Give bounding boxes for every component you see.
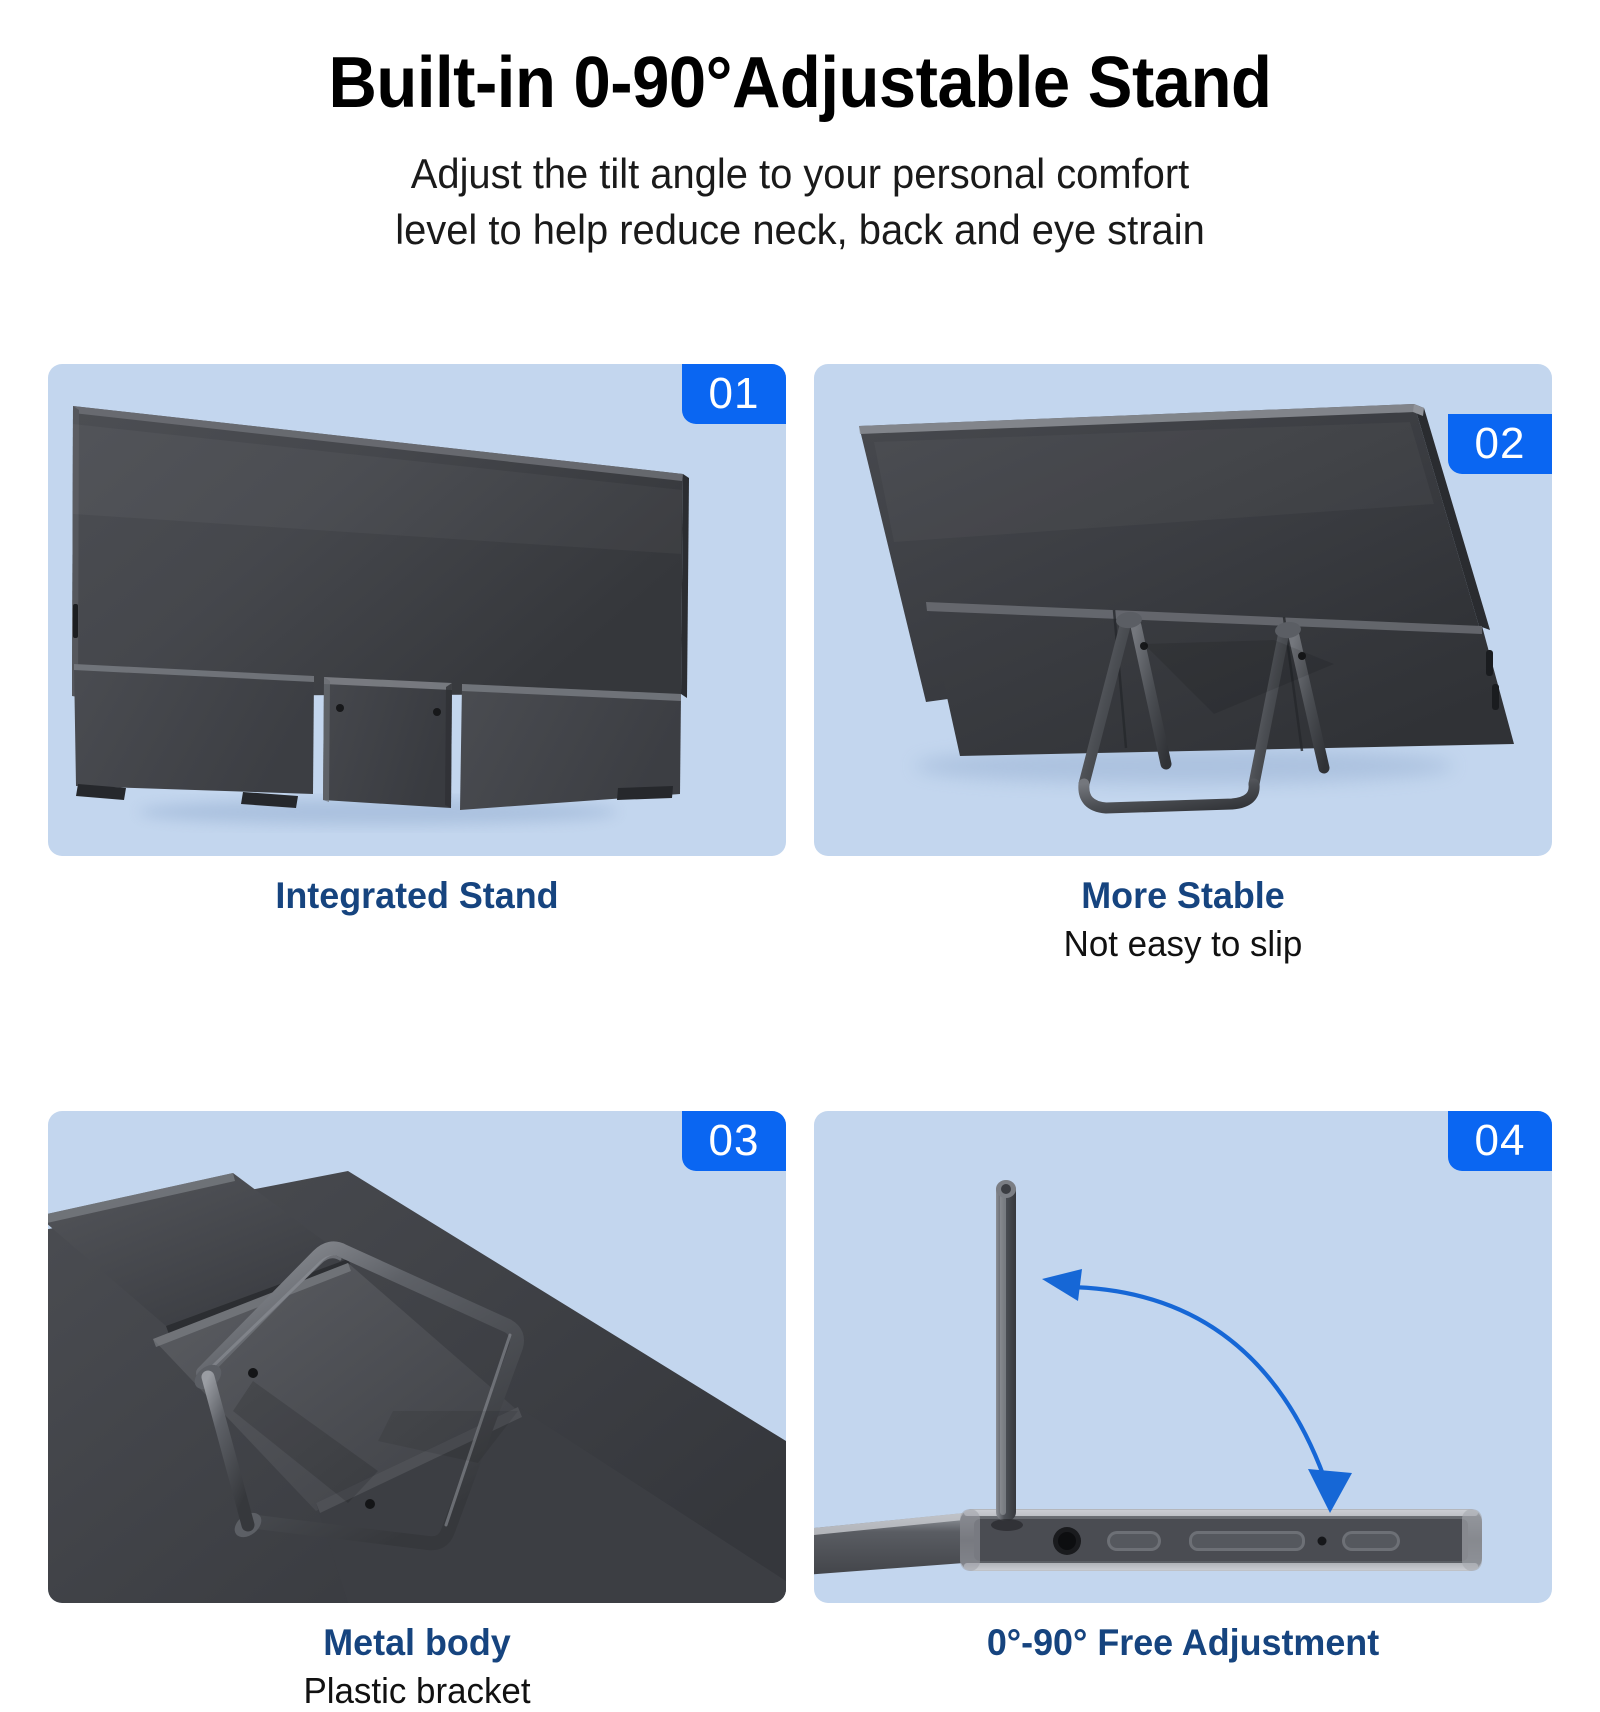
- badge-04: 04: [1448, 1111, 1552, 1171]
- feature-grid: 01: [48, 364, 1552, 1712]
- feature-cell-1: 01: [48, 364, 786, 965]
- page-title: Built-in 0-90°Adjustable Stand: [56, 0, 1544, 124]
- caption-2-sub: Not easy to slip: [825, 918, 1541, 965]
- feature-panel-1: 01: [48, 364, 786, 856]
- feature-row-1: 01: [48, 364, 1552, 965]
- monitor-back-deployed-kickstand-illustration: [814, 364, 1552, 856]
- caption-2-main: More Stable: [825, 874, 1541, 918]
- header: Built-in 0-90°Adjustable Stand Adjust th…: [0, 0, 1600, 258]
- badge-02: 02: [1448, 414, 1552, 474]
- feature-cell-2: 02: [814, 364, 1552, 965]
- feature-panel-4: 04: [814, 1111, 1552, 1603]
- subtitle-line-1: Adjust the tilt angle to your personal c…: [40, 146, 1560, 202]
- caption-4-main: 0°-90° Free Adjustment: [825, 1621, 1541, 1665]
- infographic-page: Built-in 0-90°Adjustable Stand Adjust th…: [0, 0, 1600, 1600]
- caption-4: 0°-90° Free Adjustment: [814, 1603, 1552, 1665]
- caption-3-main: Metal body: [59, 1621, 775, 1665]
- feature-panel-3: 03: [48, 1111, 786, 1603]
- page-subtitle: Adjust the tilt angle to your personal c…: [40, 124, 1560, 258]
- badge-03: 03: [682, 1111, 786, 1171]
- caption-1: Integrated Stand: [48, 856, 786, 918]
- badge-01: 01: [682, 364, 786, 424]
- caption-1-main: Integrated Stand: [59, 874, 775, 918]
- caption-3: Metal body Plastic bracket: [48, 1603, 786, 1712]
- feature-cell-3: 03: [48, 1111, 786, 1712]
- feature-cell-4: 04: [814, 1111, 1552, 1712]
- feature-panel-2: 02: [814, 364, 1552, 856]
- subtitle-line-2: level to help reduce neck, back and eye …: [40, 202, 1560, 258]
- caption-2: More Stable Not easy to slip: [814, 856, 1552, 965]
- side-view-rotation-arrow-illustration: [814, 1111, 1552, 1603]
- caption-3-sub: Plastic bracket: [59, 1665, 775, 1712]
- monitor-back-folded-stand-illustration: [48, 364, 786, 856]
- metal-bracket-closeup-illustration: [48, 1111, 786, 1603]
- feature-row-2: 03: [48, 1111, 1552, 1712]
